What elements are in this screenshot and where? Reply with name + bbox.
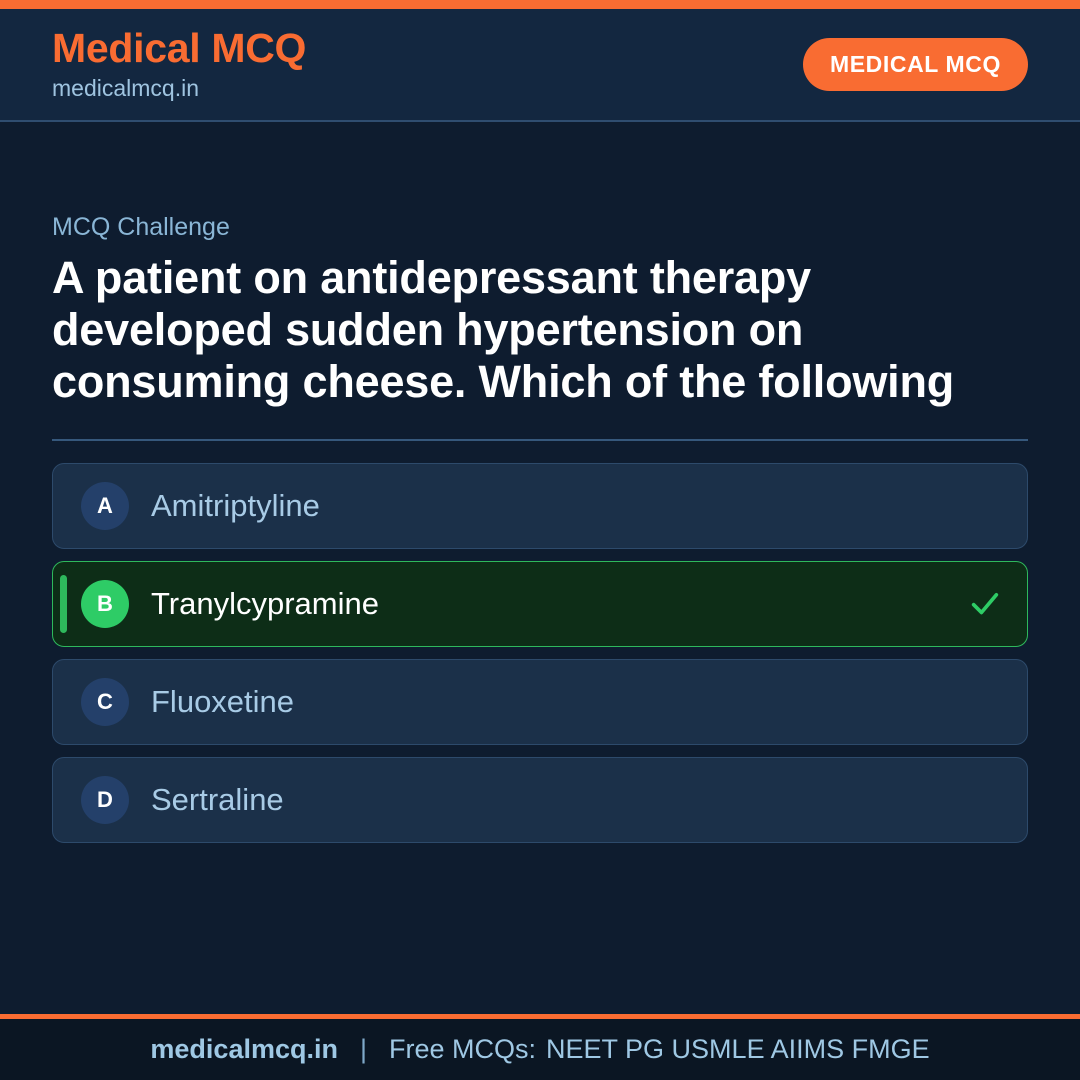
option-c-badge: C <box>81 678 129 726</box>
option-d-label: Sertraline <box>151 781 965 818</box>
footer-site-label: medicalmcq.in <box>150 1036 338 1063</box>
options-list: A Amitriptyline B Tranylcypramine C Fluo… <box>52 463 1028 843</box>
brand-subtitle: medicalmcq.in <box>52 75 306 103</box>
kicker-label: MCQ Challenge <box>52 212 1028 242</box>
option-c-label: Fluoxetine <box>151 683 965 720</box>
correct-accent-bar <box>60 575 67 633</box>
top-accent-bar <box>0 0 1080 9</box>
option-a-badge: A <box>81 482 129 530</box>
footer-exams-label: Free MCQs: <box>389 1036 536 1063</box>
brand-title: Medical MCQ <box>52 27 306 70</box>
footer-exams-list: NEET PG USMLE AIIMS FMGE <box>546 1036 930 1063</box>
question-text: A patient on antidepressant therapy deve… <box>52 252 982 409</box>
option-a[interactable]: A Amitriptyline <box>52 463 1028 549</box>
check-icon <box>965 587 1005 621</box>
brand-block: Medical MCQ medicalmcq.in <box>52 27 306 103</box>
option-b-badge: B <box>81 580 129 628</box>
question-divider <box>52 439 1028 441</box>
mcq-card: Medical MCQ medicalmcq.in MEDICAL MCQ MC… <box>0 0 1080 1080</box>
option-a-label: Amitriptyline <box>151 487 965 524</box>
option-b-label: Tranylcypramine <box>151 585 965 622</box>
option-c[interactable]: C Fluoxetine <box>52 659 1028 745</box>
main-content: MCQ Challenge A patient on antidepressan… <box>0 122 1080 1014</box>
option-b[interactable]: B Tranylcypramine <box>52 561 1028 647</box>
option-d[interactable]: D Sertraline <box>52 757 1028 843</box>
option-d-badge: D <box>81 776 129 824</box>
footer-separator: | <box>360 1036 367 1063</box>
footer: medicalmcq.in | Free MCQs: NEET PG USMLE… <box>0 1014 1080 1080</box>
header-badge: MEDICAL MCQ <box>803 38 1028 91</box>
header: Medical MCQ medicalmcq.in MEDICAL MCQ <box>0 9 1080 122</box>
